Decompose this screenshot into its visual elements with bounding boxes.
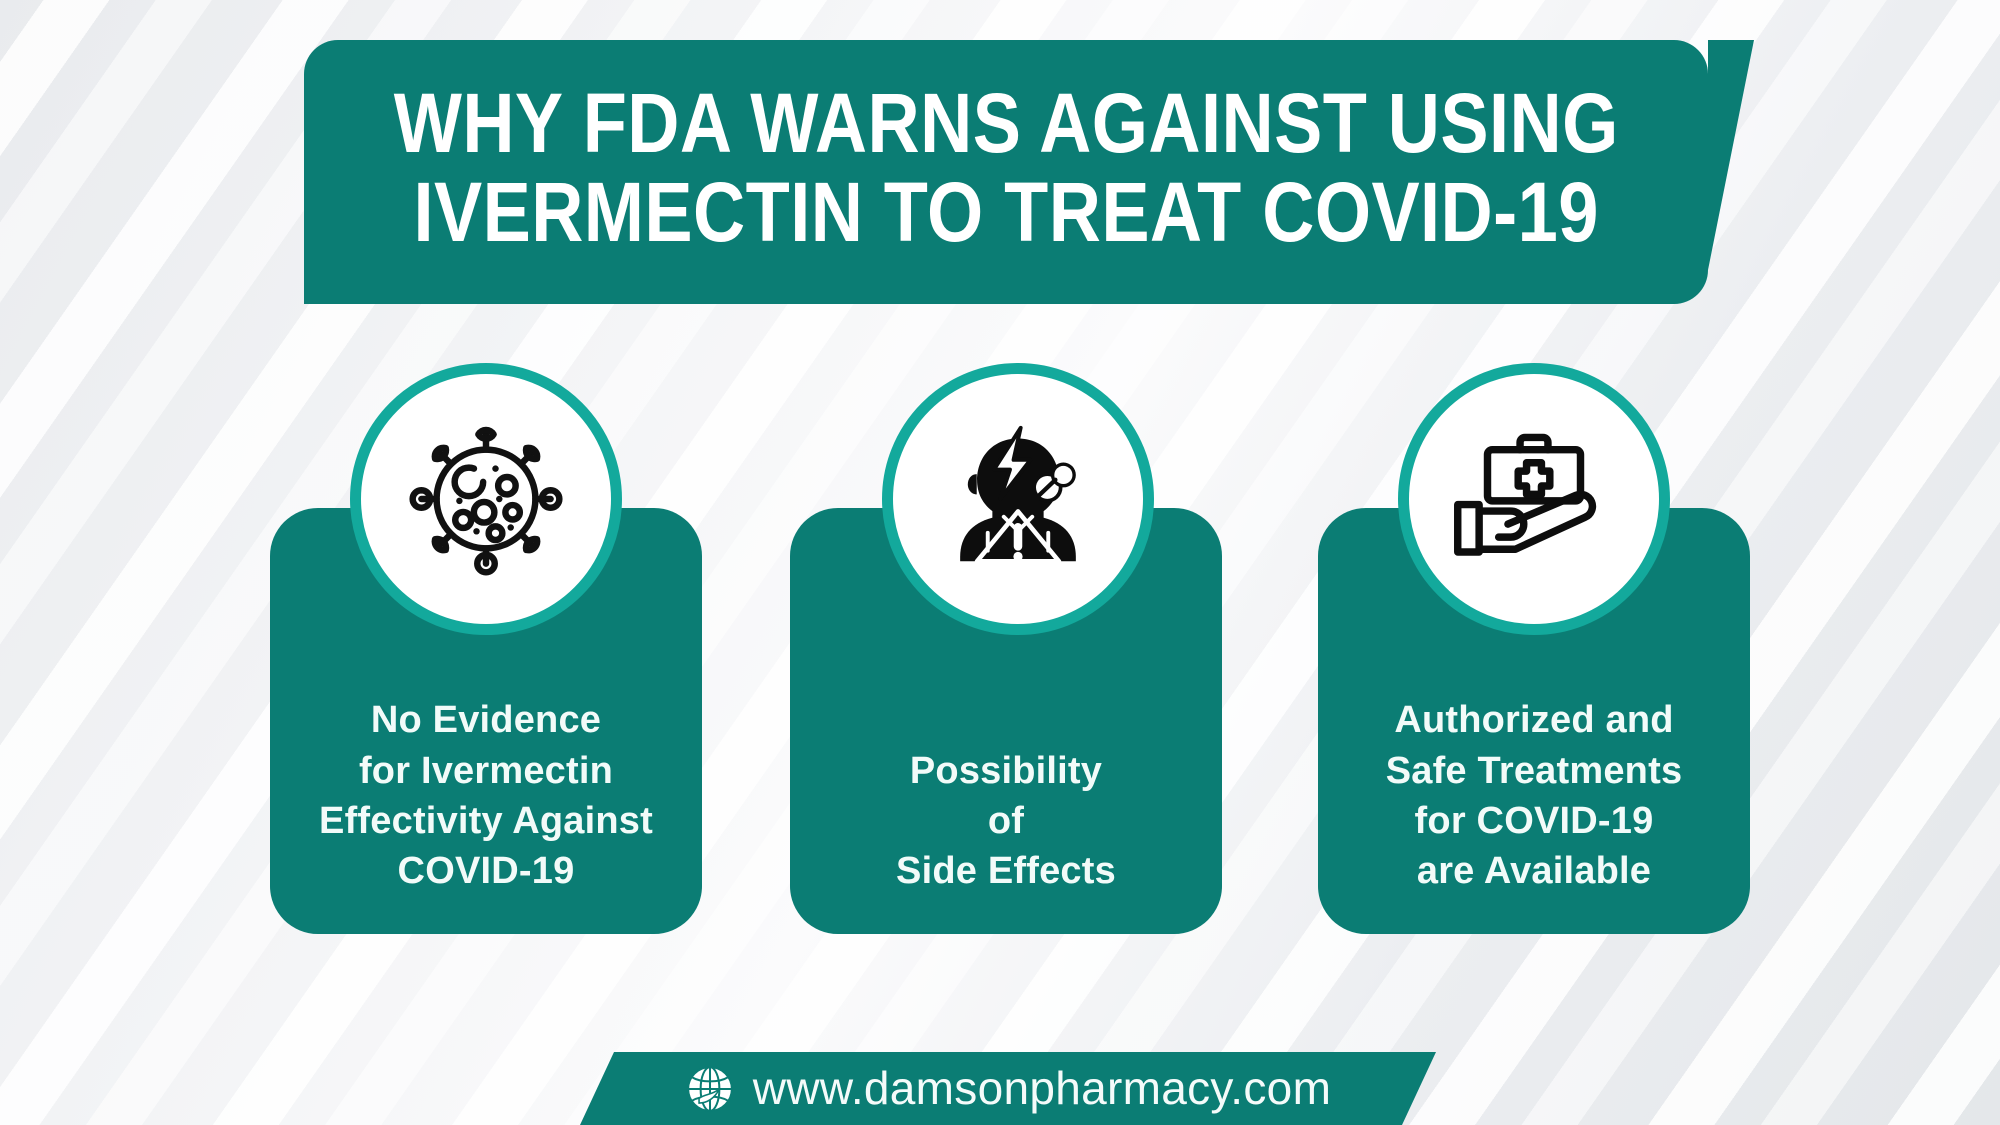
reason-card-text: Possibility of Side Effects xyxy=(882,746,1130,904)
card-line: for Ivermectin xyxy=(319,746,653,796)
card-line: Effectivity Against xyxy=(319,796,653,846)
card-line: Side Effects xyxy=(896,846,1116,896)
card-line: Safe Treatments xyxy=(1386,746,1683,796)
reason-card-text: Authorized and Safe Treatments for COVID… xyxy=(1372,695,1697,904)
card-line: of xyxy=(896,796,1116,846)
card-line: are Available xyxy=(1386,846,1683,896)
reason-card-text: No Evidence for Ivermectin Effectivity A… xyxy=(305,695,667,904)
hand-holding-first-aid-kit-icon xyxy=(1398,363,1670,635)
reason-cards: No Evidence for Ivermectin Effectivity A… xyxy=(0,0,2000,1125)
website-url[interactable]: www.damsonpharmacy.com xyxy=(753,1065,1331,1113)
card-line: COVID-19 xyxy=(319,846,653,896)
reason-card-authorized-treatments[interactable]: Authorized and Safe Treatments for COVID… xyxy=(1318,508,1750,934)
headache-person-warning-icon xyxy=(882,363,1154,635)
reason-card-side-effects[interactable]: Possibility of Side Effects xyxy=(790,508,1222,934)
card-line: No Evidence xyxy=(319,695,653,745)
card-line: Possibility xyxy=(896,746,1116,796)
globe-icon xyxy=(685,1064,735,1114)
card-line: Authorized and xyxy=(1386,695,1683,745)
reason-card-no-evidence[interactable]: No Evidence for Ivermectin Effectivity A… xyxy=(270,508,702,934)
footer-bar[interactable]: www.damsonpharmacy.com xyxy=(580,1052,1436,1125)
card-line: for COVID-19 xyxy=(1386,796,1683,846)
coronavirus-icon xyxy=(350,363,622,635)
infographic-canvas: WHY FDA WARNS AGAINST USING IVERMECTIN T… xyxy=(0,0,2000,1125)
